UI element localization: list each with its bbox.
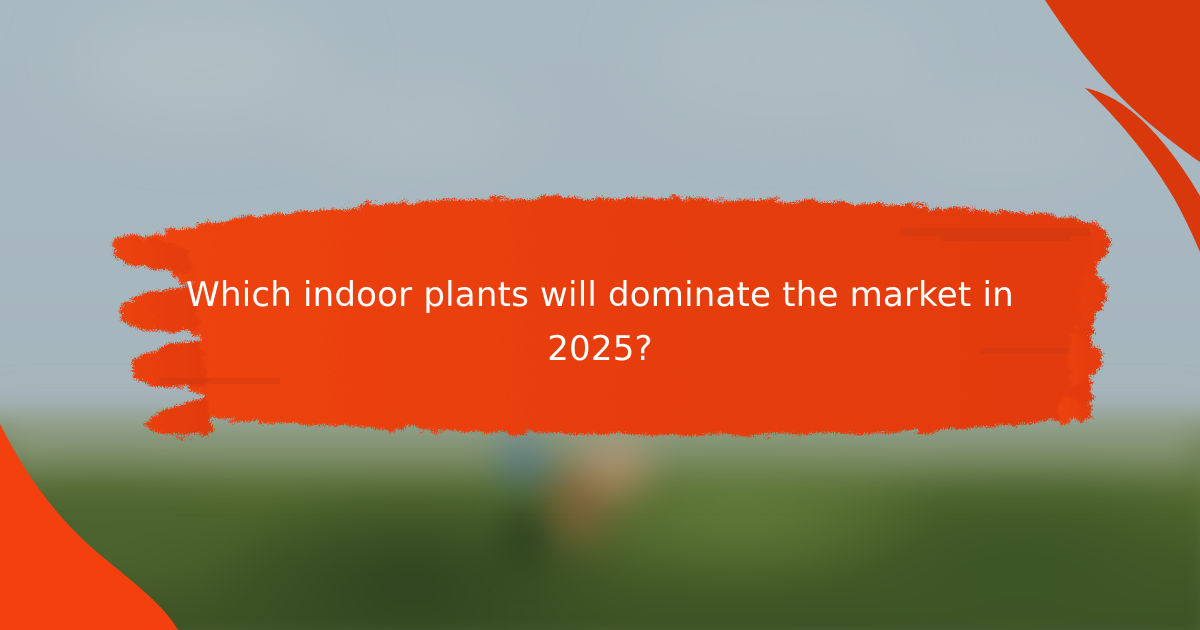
page-title: Which indoor plants will dominate the ma… [140,268,1060,376]
social-share-card: Which indoor plants will dominate the ma… [0,0,1200,630]
